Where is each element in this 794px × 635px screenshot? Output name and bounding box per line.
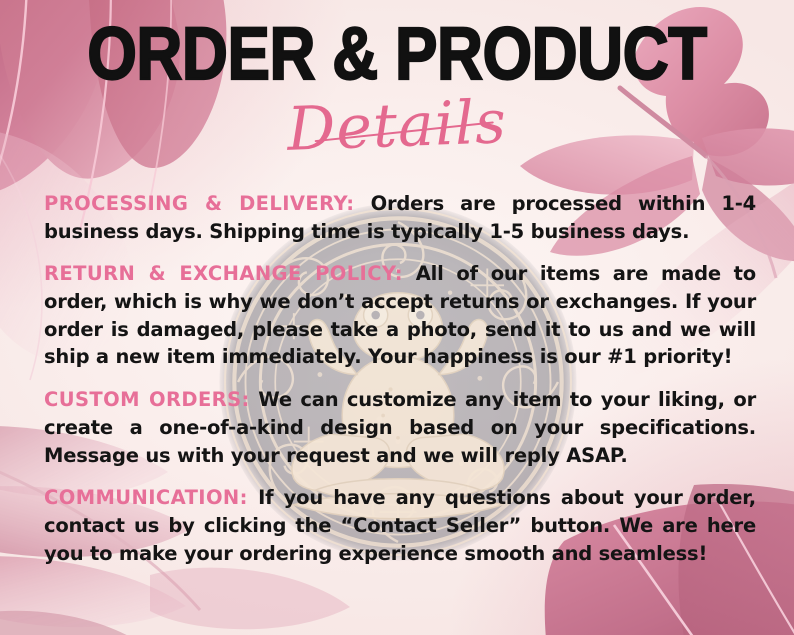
section-custom-orders: CUSTOM ORDERS: We can customize any item… — [44, 386, 756, 469]
section-label-return-exchange-policy: RETURN & EXCHANGE POLICY: — [44, 262, 403, 285]
order-product-details-card: ORDER & PRODUCT Details PROCESSING & DEL… — [0, 0, 794, 635]
section-label-custom-orders: CUSTOM ORDERS: — [44, 388, 250, 411]
section-label-processing-delivery: PROCESSING & DELIVERY: — [44, 192, 354, 215]
details-body: PROCESSING & DELIVERY: Orders are proces… — [44, 190, 756, 567]
section-return-exchange-policy: RETURN & EXCHANGE POLICY: All of our ite… — [44, 260, 756, 371]
section-processing-delivery: PROCESSING & DELIVERY: Orders are proces… — [44, 190, 756, 245]
page-subtitle-text: Details — [286, 92, 508, 160]
section-communication: COMMUNICATION: If you have any questions… — [44, 484, 756, 567]
page-title: ORDER & PRODUCT — [56, 18, 739, 89]
section-label-communication: COMMUNICATION: — [44, 486, 248, 509]
